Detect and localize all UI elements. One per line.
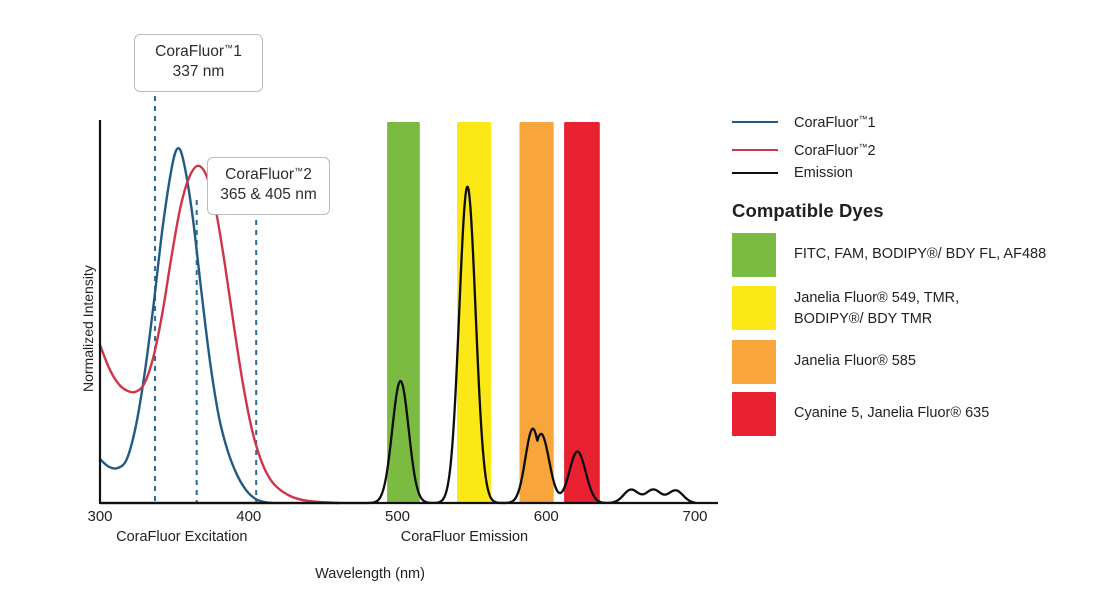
x-axis-title: Wavelength (nm) [280,566,460,582]
callout-1-line2: 337 nm [147,62,250,82]
callout-1-line1: CoraFluor™1 [147,42,250,62]
legend-panel: CoraFluor™1 CoraFluor™2 Emission Compati… [728,0,1110,612]
x-tick-600: 600 [516,508,576,525]
legend-swatch-line-corafluor1 [732,121,778,123]
callout-corafluor2: CoraFluor™2 365 & 405 nm [207,157,330,215]
curve-corafluor2 [100,166,338,503]
dye-row-green: FITC, FAM, BODIPY®/ BDY FL, AF488 [732,233,1102,277]
red-band [564,122,600,503]
x-tick-700: 700 [665,508,725,525]
legend-swatch-line-emission [732,172,778,174]
x-tick-500: 500 [368,508,428,525]
legend-item-corafluor1: CoraFluor™1 [732,113,876,131]
region-label-emission: CoraFluor Emission [384,529,544,545]
legend-label-emission: Emission [794,165,853,181]
x-tick-300: 300 [70,508,130,525]
orange-band [519,122,553,503]
callout-2-line1: CoraFluor™2 [220,165,317,185]
dye-row-orange: Janelia Fluor® 585 [732,340,1102,384]
yellow-band [457,122,491,503]
legend-label-corafluor2: CoraFluor™2 [794,142,876,159]
legend-swatch-line-corafluor2 [732,149,778,151]
region-label-excitation: CoraFluor Excitation [102,529,262,545]
green-band [387,122,420,503]
x-tick-400: 400 [219,508,279,525]
dye-label-yellow: Janelia Fluor® 549, TMR, BODIPY®/ BDY TM… [794,286,959,329]
dye-swatch-yellow [732,286,776,330]
callout-corafluor1: CoraFluor™1 337 nm [134,34,263,92]
y-axis-title: Normalized Intensity [80,265,96,392]
compatible-dyes-heading: Compatible Dyes [732,200,884,222]
dye-row-red: Cyanine 5, Janelia Fluor® 635 [732,392,1102,436]
legend-item-corafluor2: CoraFluor™2 [732,141,876,159]
dye-label-orange: Janelia Fluor® 585 [794,340,916,372]
dye-label-red: Cyanine 5, Janelia Fluor® 635 [794,392,989,424]
dye-swatch-orange [732,340,776,384]
spectra-chart: CoraFluor™1 337 nm CoraFluor™2 365 & 405… [0,0,720,612]
dye-row-yellow: Janelia Fluor® 549, TMR, BODIPY®/ BDY TM… [732,286,1102,330]
dye-swatch-red [732,392,776,436]
legend-label-corafluor1: CoraFluor™1 [794,114,876,131]
legend-item-emission: Emission [732,164,853,182]
dye-swatch-green [732,233,776,277]
callout-2-line2: 365 & 405 nm [220,185,317,205]
dye-label-green: FITC, FAM, BODIPY®/ BDY FL, AF488 [794,233,1046,265]
